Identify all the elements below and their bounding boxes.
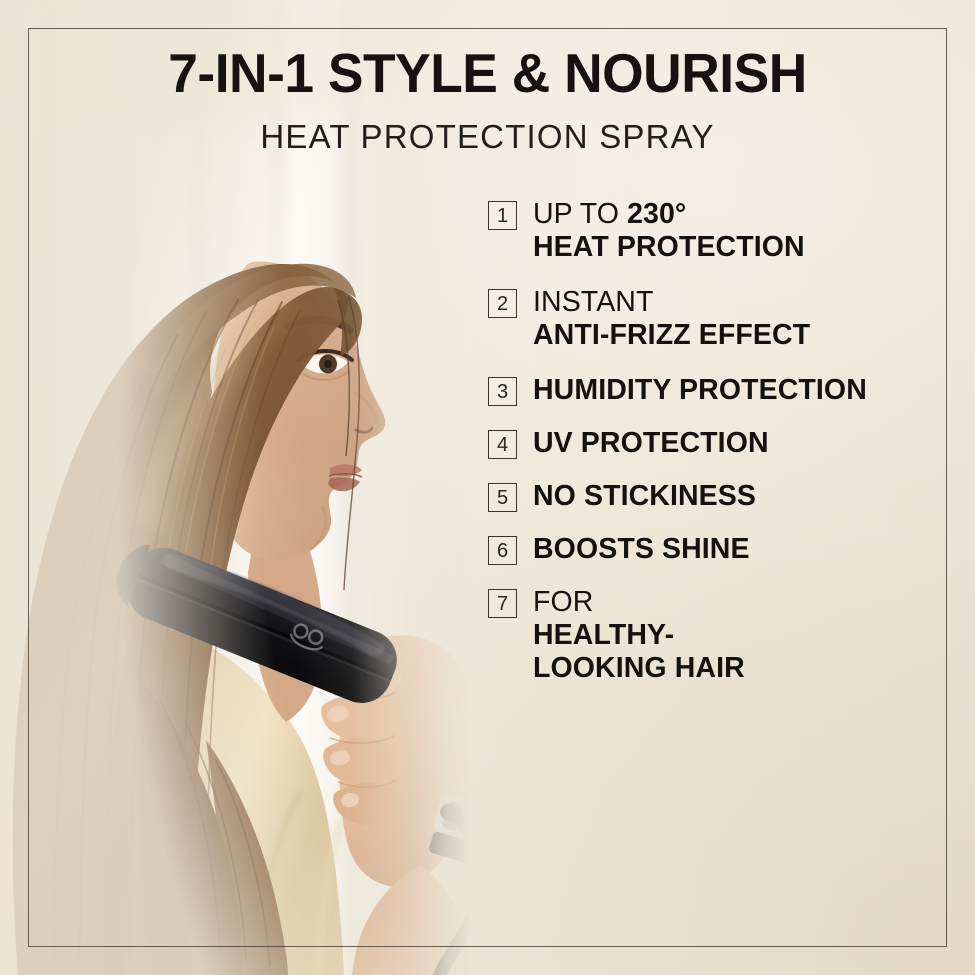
feature-text: BOOSTS SHINE xyxy=(533,533,750,566)
feature-text: FOR HEALTHY-LOOKING HAIR xyxy=(533,586,803,685)
feature-item-4: 4 UV PROTECTION xyxy=(488,427,928,460)
feature-list: 1 UP TO 230° HEAT PROTECTION 2 INSTANT A… xyxy=(488,198,928,708)
feature-line2: NO STICKINESS xyxy=(533,480,756,513)
feature-item-1: 1 UP TO 230° HEAT PROTECTION xyxy=(488,198,928,264)
feature-text: INSTANT ANTI-FRIZZ EFFECT xyxy=(533,286,810,352)
feature-number-badge: 7 xyxy=(488,589,517,618)
feature-item-6: 6 BOOSTS SHINE xyxy=(488,533,928,566)
feature-text: UV PROTECTION xyxy=(533,427,769,460)
feature-number-badge: 5 xyxy=(488,483,517,512)
feature-line2: ANTI-FRIZZ EFFECT xyxy=(533,319,810,352)
feature-line1: INSTANT xyxy=(533,286,810,319)
feature-item-5: 5 NO STICKINESS xyxy=(488,480,928,513)
promo-canvas: 7-IN-1 STYLE & NOURISH HEAT PROTECTION S… xyxy=(0,0,975,975)
feature-line1: UP TO xyxy=(533,198,627,230)
feature-text: UP TO 230° HEAT PROTECTION xyxy=(533,198,805,264)
feature-text: NO STICKINESS xyxy=(533,480,756,513)
feature-item-3: 3 HUMIDITY PROTECTION xyxy=(488,374,928,407)
feature-line2: HEAT PROTECTION xyxy=(533,231,805,264)
feature-number-badge: 6 xyxy=(488,536,517,565)
feature-number-badge: 4 xyxy=(488,430,517,459)
feature-line1: FOR xyxy=(533,586,803,619)
feature-number-badge: 2 xyxy=(488,289,517,318)
page-subtitle: HEAT PROTECTION SPRAY xyxy=(0,120,975,153)
feature-line2: UV PROTECTION xyxy=(533,427,769,460)
feature-line2: HEALTHY-LOOKING HAIR xyxy=(533,619,803,685)
feature-number-badge: 1 xyxy=(488,201,517,230)
page-title: 7-IN-1 STYLE & NOURISH xyxy=(15,46,961,101)
feature-text: HUMIDITY PROTECTION xyxy=(533,374,867,407)
feature-number-badge: 3 xyxy=(488,377,517,406)
feature-line2: BOOSTS SHINE xyxy=(533,533,750,566)
feature-line2: HUMIDITY PROTECTION xyxy=(533,374,867,407)
feature-line1-emphasis: 230° xyxy=(627,198,686,230)
feature-item-2: 2 INSTANT ANTI-FRIZZ EFFECT xyxy=(488,286,928,352)
feature-item-7: 7 FOR HEALTHY-LOOKING HAIR xyxy=(488,586,928,685)
